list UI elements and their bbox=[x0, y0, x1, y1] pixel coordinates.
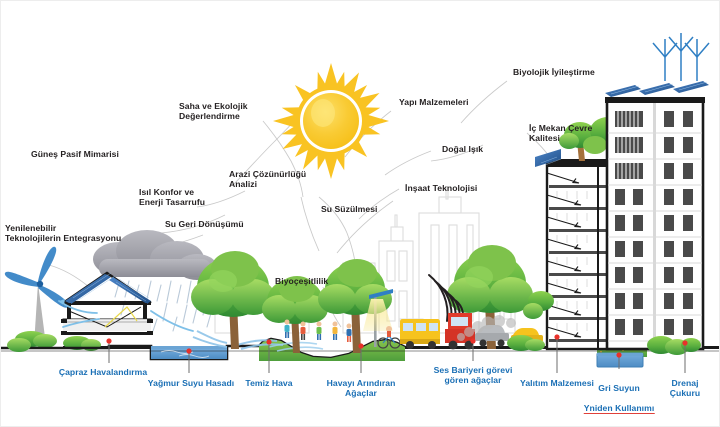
label-gri-suyun-line1: Gri Suyun bbox=[598, 383, 640, 393]
label-gri-suyun-yeniden-kullanimi: Gri Suyun Yniden Kullanımı bbox=[584, 373, 655, 414]
tower-block bbox=[605, 33, 709, 349]
label-yapi-malzemeleri: Yapı Malzemeleri bbox=[399, 97, 469, 107]
label-ic-mekan-cevre-kalitesi: İç Mekan Çevre Kalitesi bbox=[529, 123, 592, 143]
label-su-geri-donusumu: Su Geri Dönüşümü bbox=[165, 219, 244, 229]
tower-louvres bbox=[615, 111, 643, 179]
roof-wind-turbines bbox=[653, 33, 709, 81]
label-dogal-isik: Doğal Işık bbox=[442, 144, 483, 154]
label-capraz-havalandirma: Çapraz Havalandırma bbox=[59, 367, 147, 377]
label-havayi-arindiran-agaclar: Havayı Arındıran Ağaçlar bbox=[327, 378, 396, 398]
label-arazi-cozunurlugu-analizi: Arazi Çözünürlüğü Analizi bbox=[229, 169, 306, 189]
infographic-canvas: Güneş Pasif Mimarisi Saha ve Ekolojik De… bbox=[0, 0, 720, 427]
label-su-suzulmesi: Su Süzülmesi bbox=[321, 204, 377, 214]
label-insaat-teknolojisi: İnşaat Teknolojisi bbox=[405, 183, 477, 193]
label-drenaj-cukuru: Drenaj Çukuru bbox=[668, 378, 702, 398]
label-yagmur-suyu-hasadi: Yağmur Suyu Hasadı bbox=[148, 378, 234, 388]
label-saha-ve-ekolojik-degerlendirme: Saha ve Ekolojik Değerlendirme bbox=[179, 101, 248, 121]
roof-solar-panels bbox=[605, 81, 709, 97]
label-gunes-pasif-mimarisi: Güneş Pasif Mimarisi bbox=[31, 149, 119, 159]
label-temiz-hava: Temiz Hava bbox=[245, 378, 292, 388]
solar-panel-house bbox=[59, 273, 193, 351]
label-biyolojik-iyilestirme: Biyolojik İyileştirme bbox=[513, 67, 595, 77]
bus bbox=[400, 319, 440, 349]
wind-turbine bbox=[5, 247, 69, 348]
label-yenilenebilir-teknolojiler: Yenilenebilir Teknolojilerin Entegrasyon… bbox=[5, 223, 121, 243]
label-gri-suyun-line2: Yniden Kullanımı bbox=[584, 403, 655, 414]
label-ses-bariyeri-agaclar: Ses Bariyeri görevi gören ağaçlar bbox=[434, 365, 513, 385]
label-biyocesitlilik: Biyoçeşitlilik bbox=[275, 276, 328, 286]
label-isil-konfor-ve-enerji-tasarrufu: Isıl Konfor ve Enerji Tasarrufu bbox=[139, 187, 205, 207]
